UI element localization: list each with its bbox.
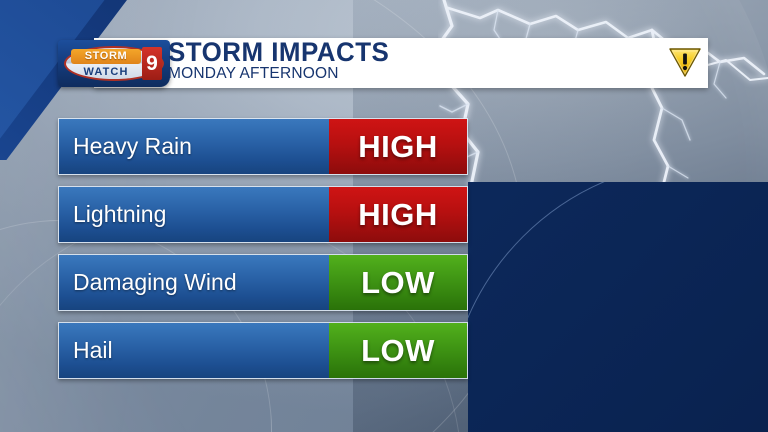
impact-row: HailLOW xyxy=(58,322,468,379)
header-titles: STORM IMPACTS MONDAY AFTERNOON xyxy=(168,40,399,83)
impact-level-badge: LOW xyxy=(329,255,467,310)
corner-accent xyxy=(468,182,768,432)
logo-watch-text: WATCH xyxy=(71,65,141,80)
impact-level-badge: HIGH xyxy=(329,119,467,174)
weather-graphic: STORM WATCH 9 STORM IMPACTS MONDAY AFTER… xyxy=(0,0,768,432)
impact-label: Hail xyxy=(59,323,329,378)
impact-rows: Heavy RainHIGHLightningHIGHDamaging Wind… xyxy=(58,118,468,390)
impact-level-badge: LOW xyxy=(329,323,467,378)
impact-row: LightningHIGH xyxy=(58,186,468,243)
page-title: STORM IMPACTS xyxy=(168,40,389,65)
impact-label: Heavy Rain xyxy=(59,119,329,174)
storm-watch-9-logo: STORM WATCH 9 xyxy=(58,40,170,87)
warning-triangle-icon xyxy=(668,46,702,78)
page-subtitle: MONDAY AFTERNOON xyxy=(168,65,392,83)
impact-level-badge: HIGH xyxy=(329,187,467,242)
logo-channel-number: 9 xyxy=(142,47,162,80)
impact-label: Lightning xyxy=(59,187,329,242)
impact-row: Damaging WindLOW xyxy=(58,254,468,311)
impact-label: Damaging Wind xyxy=(59,255,329,310)
logo-storm-text: STORM xyxy=(71,49,141,64)
impact-row: Heavy RainHIGH xyxy=(58,118,468,175)
